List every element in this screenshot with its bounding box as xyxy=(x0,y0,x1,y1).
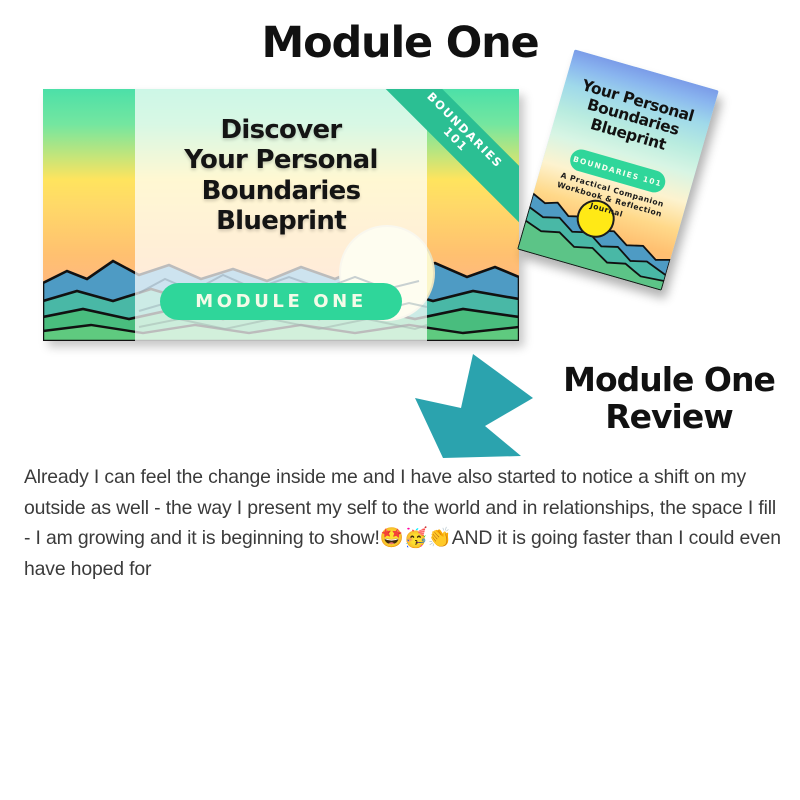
down-left-arrow-icon xyxy=(413,352,538,460)
banner-heading-line-3: Boundaries xyxy=(135,176,427,206)
module-banner-card: Discover Your Personal Boundaries Bluepr… xyxy=(43,89,519,341)
workbook-mockup: Your Personal Boundaries Blueprint BOUND… xyxy=(515,58,755,303)
banner-heading-line-1: Discover xyxy=(135,115,427,145)
module-one-pill-badge: MODULE ONE xyxy=(160,283,402,320)
banner-heading-line-4: Blueprint xyxy=(135,206,427,236)
review-heading-line-1: Module One xyxy=(545,362,793,399)
banner-heading: Discover Your Personal Boundaries Bluepr… xyxy=(135,115,427,237)
review-heading: Module One Review xyxy=(545,362,793,436)
testimonial-emoji-group: 🤩🥳👏 xyxy=(380,526,452,549)
banner-heading-line-2: Your Personal xyxy=(135,145,427,175)
testimonial-text: Already I can feel the change inside me … xyxy=(24,462,786,585)
workbook-cover: Your Personal Boundaries Blueprint BOUND… xyxy=(517,49,719,290)
review-heading-line-2: Review xyxy=(545,399,793,436)
